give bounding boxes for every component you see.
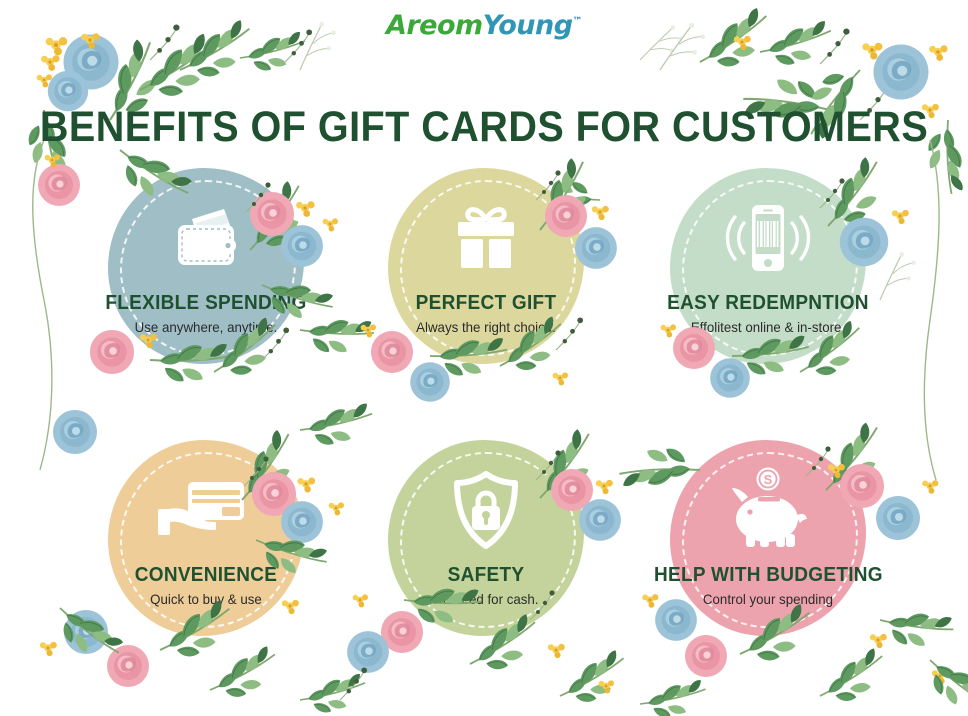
coin-label: S	[764, 472, 773, 487]
benefits-grid: FLEXIBLE SPENDING Use anywhere, anytime.	[0, 168, 968, 688]
benefit-card-perfect-gift[interactable]: PERFECT GIFT Always the right choice.	[366, 168, 606, 418]
shield-lock-icon	[366, 466, 606, 554]
gift-box-icon	[366, 194, 606, 282]
card-text-block: HELP WITH BUDGETING Control your spendin…	[648, 564, 888, 607]
wallet-icon	[86, 194, 326, 282]
logo-text-secondary: Young	[483, 10, 573, 41]
card-subtitle: Control your spending	[654, 591, 882, 607]
mobile-barcode-icon	[648, 194, 888, 282]
brand-logo: AreomYoung™	[0, 10, 968, 41]
trademark-icon: ™	[573, 16, 583, 27]
benefit-card-convenience[interactable]: CONVENIENCE Quick to buy & use	[86, 440, 326, 690]
benefit-card-easy-redemption[interactable]: EASY REDEMPNTION Effolitest online & in-…	[648, 168, 888, 418]
card-title: HELP WITH BUDGETING	[654, 564, 882, 587]
card-subtitle: Always the right choice.	[372, 319, 600, 335]
logo-text-primary: Areom	[386, 10, 483, 41]
card-text-block: CONVENIENCE Quick to buy & use	[86, 564, 326, 607]
piggy-bank-icon: S	[648, 466, 888, 554]
card-text-block: PERFECT GIFT Always the right choice.	[366, 292, 606, 335]
benefit-card-help-with-budgeting[interactable]: S HELP WITH BUDGETING Cont	[648, 440, 888, 690]
hand-credit-card-icon	[86, 466, 326, 554]
card-title: FLEXIBLE SPENDING	[92, 292, 320, 315]
card-title: EASY REDEMPNTION	[654, 292, 882, 315]
card-text-block: SAFETY No need for cash.	[366, 564, 606, 607]
card-title: PERFECT GIFT	[372, 292, 600, 315]
benefit-card-flexible-spending[interactable]: FLEXIBLE SPENDING Use anywhere, anytime.	[86, 168, 326, 418]
card-title: SAFETY	[372, 564, 600, 587]
card-title: CONVENIENCE	[92, 564, 320, 587]
card-text-block: EASY REDEMPNTION Effolitest online & in-…	[648, 292, 888, 335]
card-subtitle: No need for cash.	[372, 591, 600, 607]
card-subtitle: Effolitest online & in-store.	[654, 319, 882, 335]
page-title: BENEFITS OF GIFT CARDS FOR CUSTOMERS	[39, 103, 930, 152]
card-subtitle: Use anywhere, anytime.	[92, 319, 320, 335]
benefit-card-safety[interactable]: SAFETY No need for cash.	[366, 440, 606, 690]
infographic-canvas: AreomYoung™ BENEFITS OF GIFT CARDS FOR C…	[0, 0, 968, 716]
card-text-block: FLEXIBLE SPENDING Use anywhere, anytime.	[86, 292, 326, 335]
card-subtitle: Quick to buy & use	[92, 591, 320, 607]
